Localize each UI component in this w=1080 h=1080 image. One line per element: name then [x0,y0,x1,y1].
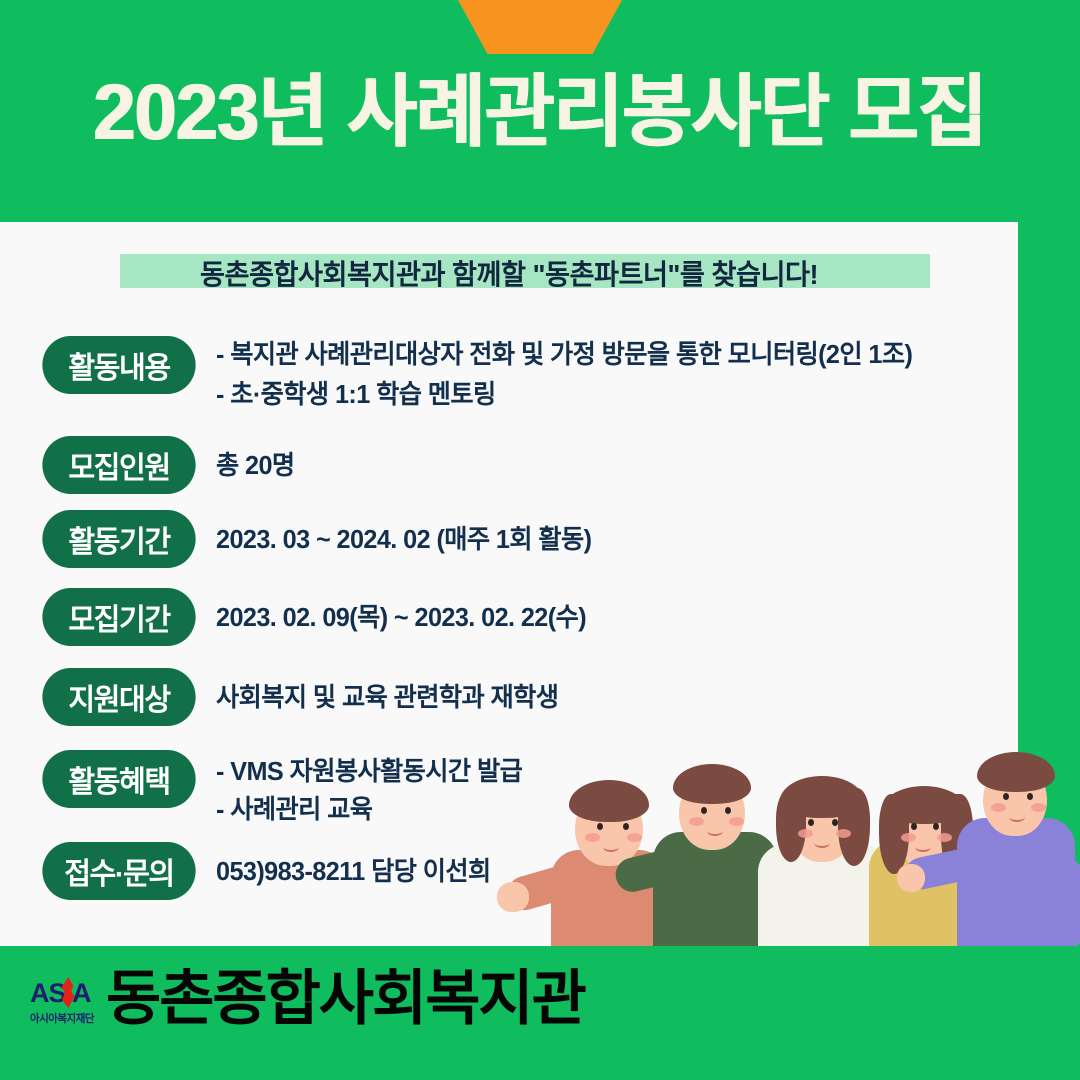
subtitle-block: 동촌종합사회복지관과 함께할 "동촌파트너"를 찾습니다! [0,248,1018,298]
label-target: 지원대상 [42,668,195,726]
info-row-target: 지원대상 사회복지 및 교육 관련학과 재학생 [40,668,569,726]
subtitle-text: 동촌종합사회복지관과 함께할 "동촌파트너"를 찾습니다! [15,248,1002,298]
asia-logo-subtext: 아시아복지재단 [30,1010,112,1026]
label-contact: 접수·문의 [42,842,195,900]
value-headcount: 총 20명 [216,436,297,494]
value-benefit: - VMS 자원봉사활동시간 발급 - 사례관리 교육 [216,750,532,828]
asia-foundation-logo: ASIA 아시아복지재단 [30,977,114,1029]
label-activity: 활동내용 [42,336,195,394]
apply-period-line-1: 2023. 02. 09(목) ~ 2023. 02. 22(수) [216,597,586,637]
contact-line-1: 053)983-8211 담당 이선희 [216,851,491,891]
label-headcount: 모집인원 [42,436,195,494]
activity-period-line-1: 2023. 03 ~ 2024. 02 (매주 1회 활동) [216,519,591,559]
label-benefit: 활동혜택 [42,750,195,808]
info-row-benefit: 활동혜택 - VMS 자원봉사활동시간 발급 - 사례관리 교육 [40,750,532,828]
activity-line-1: - 복지관 사례관리대상자 전화 및 가정 방문을 통한 모니터링(2인 1조) [216,334,912,374]
info-row-activity: 활동내용 - 복지관 사례관리대상자 전화 및 가정 방문을 통한 모니터링(2… [40,336,934,414]
info-row-activity-period: 활동기간 2023. 03 ~ 2024. 02 (매주 1회 활동) [40,510,603,568]
value-apply-period: 2023. 02. 09(목) ~ 2023. 02. 22(수) [216,588,597,646]
organization-name: 동촌종합사회복지관 [106,963,585,1035]
orange-tab-shape [458,0,622,54]
page-title: 2023년 사례관리봉사단 모집 [22,66,1059,158]
label-activity-period: 활동기간 [42,510,195,568]
value-activity: - 복지관 사례관리대상자 전화 및 가정 방문을 통한 모니터링(2인 1조)… [216,332,934,414]
info-row-headcount: 모집인원 총 20명 [40,436,297,494]
benefit-line-1: - VMS 자원봉사활동시간 발급 [216,752,522,790]
value-contact: 053)983-8211 담당 이선희 [216,842,499,900]
target-line-1: 사회복지 및 교육 관련학과 재학생 [216,677,558,717]
poster-root: 2023년 사례관리봉사단 모집 동촌종합사회복지관과 함께할 "동촌파트너"를… [0,0,1080,1080]
info-row-contact: 접수·문의 053)983-8211 담당 이선희 [40,842,499,900]
value-target: 사회복지 및 교육 관련학과 재학생 [216,668,569,726]
label-apply-period: 모집기간 [42,588,195,646]
value-activity-period: 2023. 03 ~ 2024. 02 (매주 1회 활동) [216,510,603,568]
activity-line-2: - 초·중학생 1:1 학습 멘토링 [216,374,912,414]
benefit-line-2: - 사례관리 교육 [216,790,522,828]
info-row-apply-period: 모집기간 2023. 02. 09(목) ~ 2023. 02. 22(수) [40,588,597,646]
headcount-line-1: 총 20명 [216,445,295,485]
